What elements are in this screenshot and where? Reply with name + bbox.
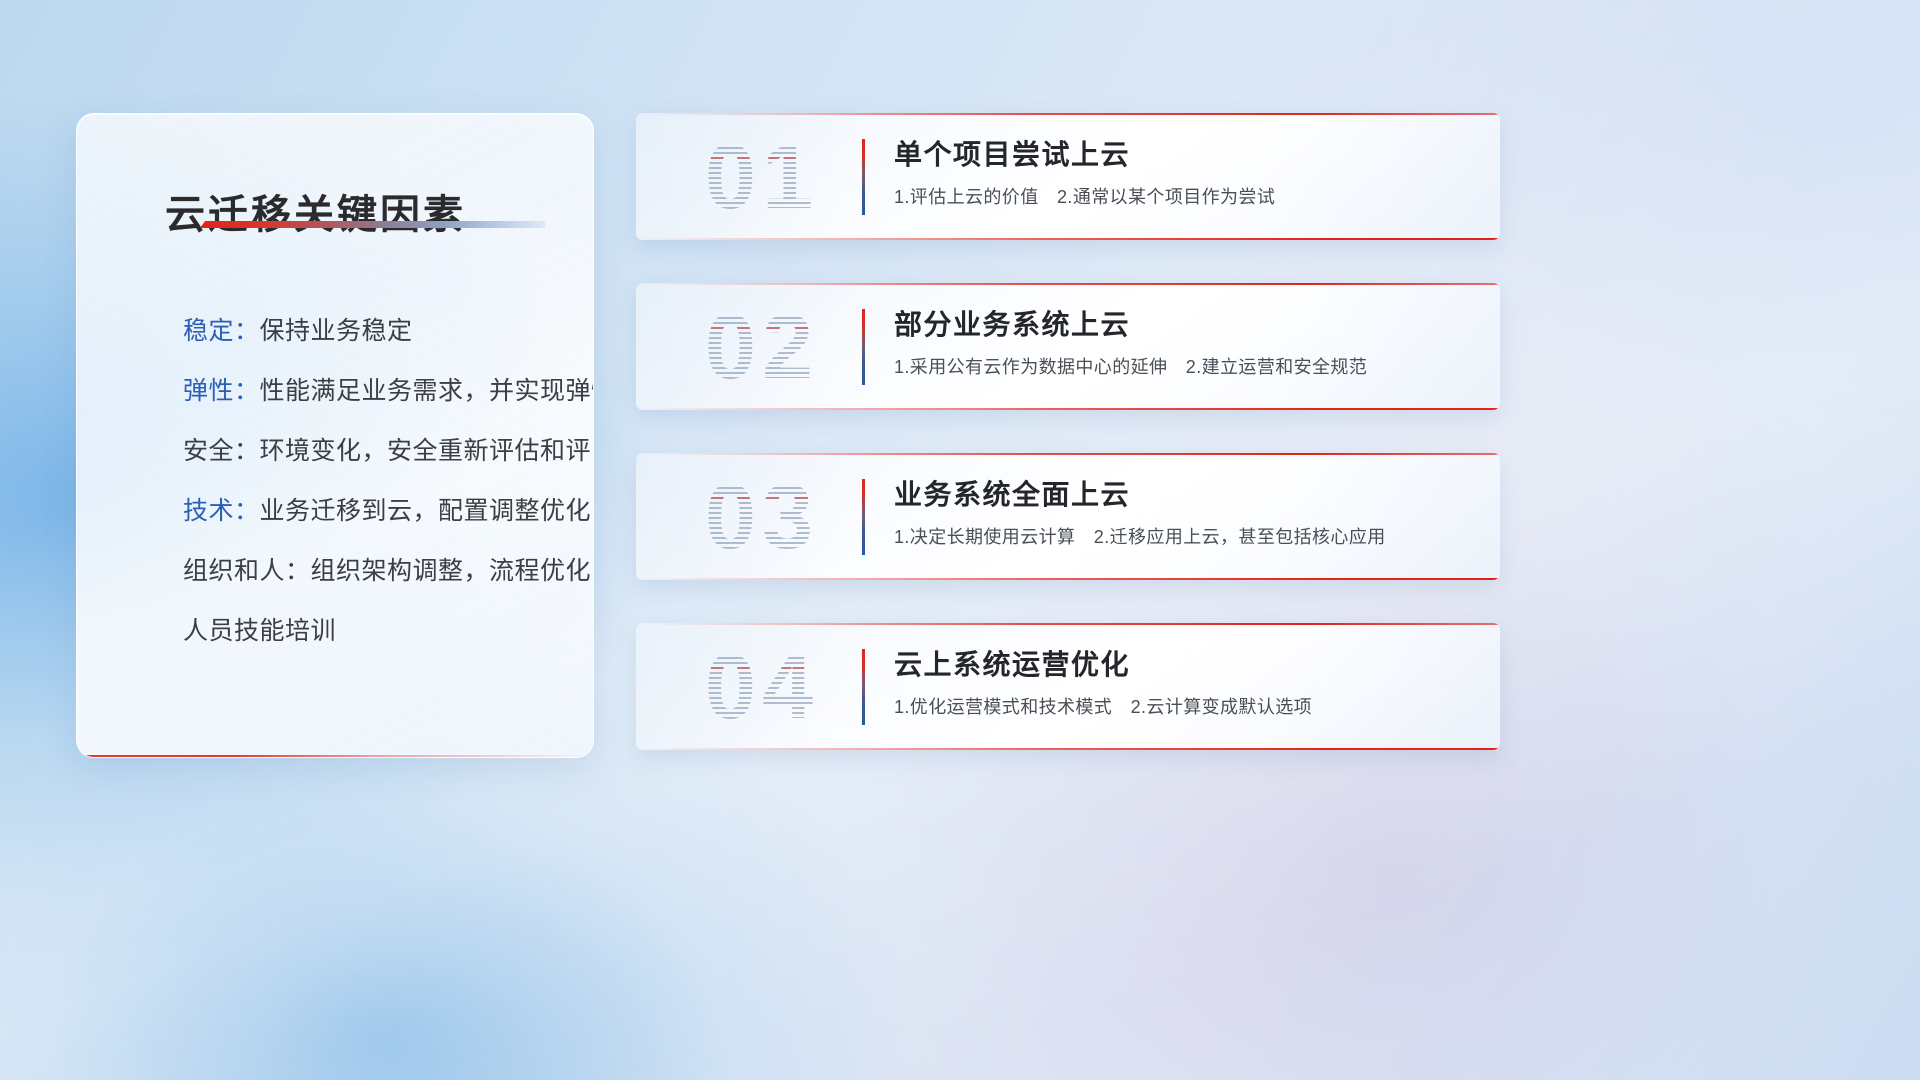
card-title: 云上系统运营优化 (894, 645, 1480, 685)
card-body: 业务系统全面上云 1.决定长期使用云计算 2.迁移应用上云，甚至包括核心应用 (894, 475, 1480, 551)
stage-number-watermark: 01 (662, 127, 862, 227)
card-body: 部分业务系统上云 1.采用公有云作为数据中心的延伸 2.建立运营和安全规范 (894, 305, 1480, 381)
factor-label: 稳定： (183, 311, 260, 347)
page-title: 云迁移关键因素 (165, 182, 525, 240)
list-item: 人员技能培训 (107, 599, 571, 659)
factor-label: 弹性： (183, 371, 260, 407)
list-item: 稳定： 保持业务稳定 (107, 299, 571, 359)
key-factors-list: 稳定： 保持业务稳定 弹性： 性能满足业务需求，并实现弹性 安全： 环境变化，安… (107, 299, 571, 659)
stage-card-04[interactable]: 04 04 云上系统运营优化 1.优化运营模式和技术模式 2.云计算变成默认选项 (636, 623, 1500, 750)
card-title: 业务系统全面上云 (894, 475, 1480, 515)
card-body: 云上系统运营优化 1.优化运营模式和技术模式 2.云计算变成默认选项 (894, 645, 1480, 721)
title-underline (200, 221, 545, 228)
stage-number-watermark: 04 (662, 637, 862, 737)
stage-number-watermark: 03 (662, 467, 862, 567)
list-item: 技术： 业务迁移到云，配置调整优化 (107, 479, 571, 539)
slide-stage: 云迁移关键因素 稳定： 保持业务稳定 弹性： 性能满足业务需求，并实现弹性 安全… (0, 0, 1920, 1080)
card-divider (862, 479, 865, 555)
stage-card-03[interactable]: 03 03 业务系统全面上云 1.决定长期使用云计算 2.迁移应用上云，甚至包括… (636, 453, 1500, 580)
factor-label: 技术： (183, 491, 260, 527)
list-item: 组织和人： 组织架构调整，流程优化， (107, 539, 571, 599)
card-divider (862, 309, 865, 385)
card-body: 单个项目尝试上云 1.评估上云的价值 2.通常以某个项目作为尝试 (894, 135, 1480, 211)
card-title: 单个项目尝试上云 (894, 135, 1480, 175)
card-description: 1.采用公有云作为数据中心的延伸 2.建立运营和安全规范 (894, 353, 1480, 381)
factor-value: 组织架构调整，流程优化， (311, 551, 594, 587)
card-description: 1.决定长期使用云计算 2.迁移应用上云，甚至包括核心应用 (894, 523, 1480, 551)
card-description: 1.评估上云的价值 2.通常以某个项目作为尝试 (894, 183, 1480, 211)
card-title: 部分业务系统上云 (894, 305, 1480, 345)
stage-card-01[interactable]: 01 01 单个项目尝试上云 1.评估上云的价值 2.通常以某个项目作为尝试 (636, 113, 1500, 240)
card-divider (862, 139, 865, 215)
card-description: 1.优化运营模式和技术模式 2.云计算变成默认选项 (894, 693, 1480, 721)
stage-number-watermark: 02 (662, 297, 862, 397)
factor-value: 业务迁移到云，配置调整优化 (260, 491, 592, 527)
factor-label: 组织和人： (183, 551, 311, 587)
card-divider (862, 649, 865, 725)
key-factors-panel: 云迁移关键因素 稳定： 保持业务稳定 弹性： 性能满足业务需求，并实现弹性 安全… (76, 113, 594, 758)
stage-card-02[interactable]: 02 02 部分业务系统上云 1.采用公有云作为数据中心的延伸 2.建立运营和安… (636, 283, 1500, 410)
factor-value: 性能满足业务需求，并实现弹性 (260, 371, 594, 407)
list-item: 安全： 环境变化，安全重新评估和评审 (107, 419, 571, 479)
migration-stage-cards: 01 01 单个项目尝试上云 1.评估上云的价值 2.通常以某个项目作为尝试 0… (636, 113, 1500, 793)
factor-value: 人员技能培训 (183, 611, 336, 647)
factor-label: 安全： (183, 431, 260, 467)
list-item: 弹性： 性能满足业务需求，并实现弹性 (107, 359, 571, 419)
factor-value: 保持业务稳定 (260, 311, 413, 347)
factor-value: 环境变化，安全重新评估和评审 (260, 431, 594, 467)
